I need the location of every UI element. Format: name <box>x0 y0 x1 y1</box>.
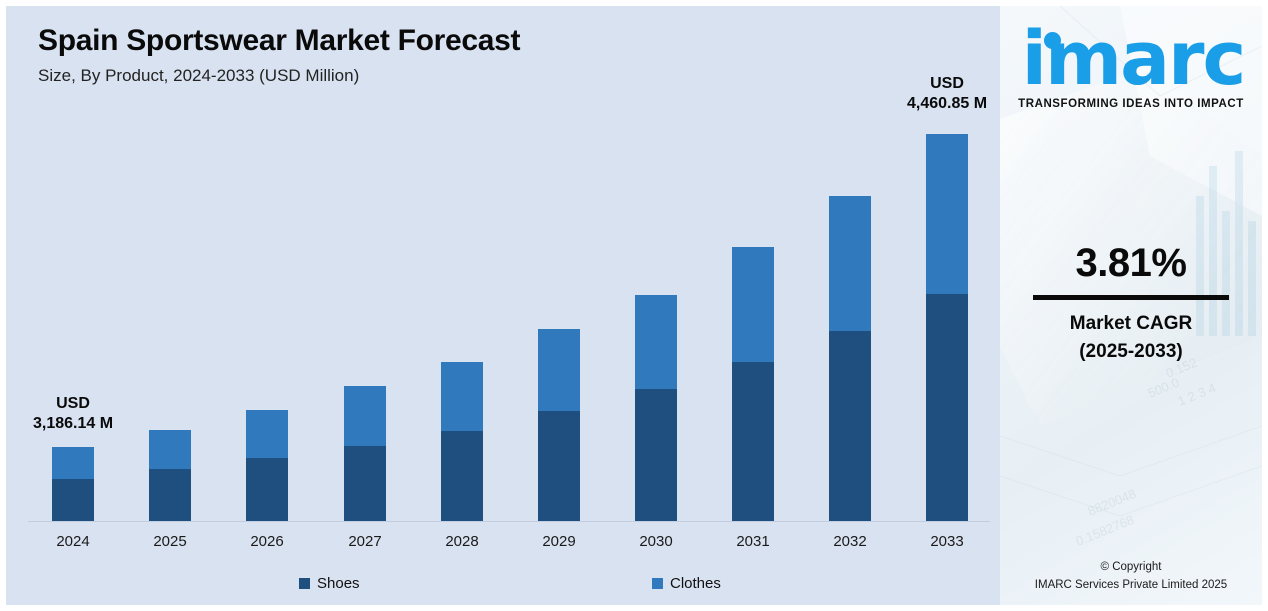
x-axis-label-2031: 2031 <box>708 533 798 550</box>
x-axis-label-2026: 2026 <box>222 533 312 550</box>
chart-screenshot: Spain Sportswear Market Forecast Size, B… <box>0 0 1268 611</box>
bar-segment-clothes-2031[interactable] <box>732 247 774 362</box>
bar-segment-clothes-2029[interactable] <box>538 329 580 411</box>
bar-segment-shoes-2030[interactable] <box>635 389 677 521</box>
bar-segment-clothes-2027[interactable] <box>344 386 386 446</box>
bar-segment-clothes-2024[interactable] <box>52 447 94 479</box>
bar-2026[interactable] <box>246 410 288 521</box>
bar-segment-shoes-2028[interactable] <box>441 431 483 521</box>
logo-dot-icon <box>1044 32 1061 49</box>
bar-segment-clothes-2030[interactable] <box>635 295 677 389</box>
cagr-label: Market CAGR <box>1000 313 1262 335</box>
bar-2027[interactable] <box>344 386 386 521</box>
plot-area: USD 3,186.14 M USD 4,460.85 M 2024202520… <box>6 6 1000 605</box>
svg-text:0.1582768: 0.1582768 <box>1074 512 1137 549</box>
x-axis-label-2032: 2032 <box>805 533 895 550</box>
x-axis-line <box>28 521 990 522</box>
bar-2031[interactable] <box>732 247 774 521</box>
cagr-block: 3.81% Market CAGR (2025-2033) <box>1000 241 1262 363</box>
copyright-line1: © Copyright <box>1000 559 1262 577</box>
bar-2033[interactable] <box>926 134 968 521</box>
bar-segment-clothes-2033[interactable] <box>926 134 968 294</box>
legend-label-shoes: Shoes <box>317 575 360 592</box>
bar-segment-clothes-2025[interactable] <box>149 430 191 469</box>
x-axis-label-2028: 2028 <box>417 533 507 550</box>
bar-segment-clothes-2026[interactable] <box>246 410 288 458</box>
callout-first: USD 3,186.14 M <box>27 394 119 434</box>
bar-segment-shoes-2026[interactable] <box>246 458 288 521</box>
x-axis-label-2030: 2030 <box>611 533 701 550</box>
bar-segment-shoes-2033[interactable] <box>926 294 968 521</box>
callout-first-line2: 3,186.14 M <box>27 414 119 434</box>
bar-2032[interactable] <box>829 196 871 521</box>
bar-2028[interactable] <box>441 362 483 521</box>
cagr-divider <box>1033 295 1229 300</box>
imarc-logo: imarc TRANSFORMING IDEAS INTO IMPACT <box>1000 24 1262 110</box>
callout-last-line1: USD <box>886 74 1000 94</box>
cagr-period: (2025-2033) <box>1000 341 1262 363</box>
bar-segment-shoes-2031[interactable] <box>732 362 774 521</box>
brand-panel: 500.0 0.152 1 2 3 4 0.1582768 8820048 im… <box>1000 6 1262 605</box>
copyright-notice: © Copyright IMARC Services Private Limit… <box>1000 559 1262 595</box>
bar-segment-shoes-2024[interactable] <box>52 479 94 521</box>
bar-segment-shoes-2029[interactable] <box>538 411 580 521</box>
callout-last-line2: 4,460.85 M <box>886 94 1000 114</box>
bar-segment-shoes-2027[interactable] <box>344 446 386 521</box>
callout-first-line1: USD <box>27 394 119 414</box>
x-axis-label-2029: 2029 <box>514 533 604 550</box>
bar-segment-shoes-2025[interactable] <box>149 469 191 521</box>
bar-segment-clothes-2032[interactable] <box>829 196 871 331</box>
x-axis-label-2025: 2025 <box>125 533 215 550</box>
chart-panel: Spain Sportswear Market Forecast Size, B… <box>6 6 1000 605</box>
x-axis-label-2033: 2033 <box>902 533 992 550</box>
legend-label-clothes: Clothes <box>670 575 721 592</box>
legend-swatch-shoes <box>299 578 310 589</box>
cagr-value: 3.81% <box>1000 241 1262 286</box>
legend-item-clothes[interactable]: Clothes <box>652 575 721 592</box>
bar-segment-clothes-2028[interactable] <box>441 362 483 431</box>
bar-2030[interactable] <box>635 295 677 521</box>
logo-wordmark: imarc <box>1022 16 1245 102</box>
x-axis-label-2027: 2027 <box>320 533 410 550</box>
bar-2029[interactable] <box>538 329 580 521</box>
chart-legend: Shoes Clothes <box>6 571 1000 599</box>
bar-segment-shoes-2032[interactable] <box>829 331 871 521</box>
x-axis-label-2024: 2024 <box>28 533 118 550</box>
svg-text:1 2 3 4: 1 2 3 4 <box>1176 380 1218 409</box>
bar-2025[interactable] <box>149 430 191 521</box>
copyright-line2: IMARC Services Private Limited 2025 <box>1000 577 1262 595</box>
bar-2024[interactable] <box>52 447 94 521</box>
legend-swatch-clothes <box>652 578 663 589</box>
callout-last: USD 4,460.85 M <box>886 74 1000 114</box>
legend-item-shoes[interactable]: Shoes <box>299 575 360 592</box>
